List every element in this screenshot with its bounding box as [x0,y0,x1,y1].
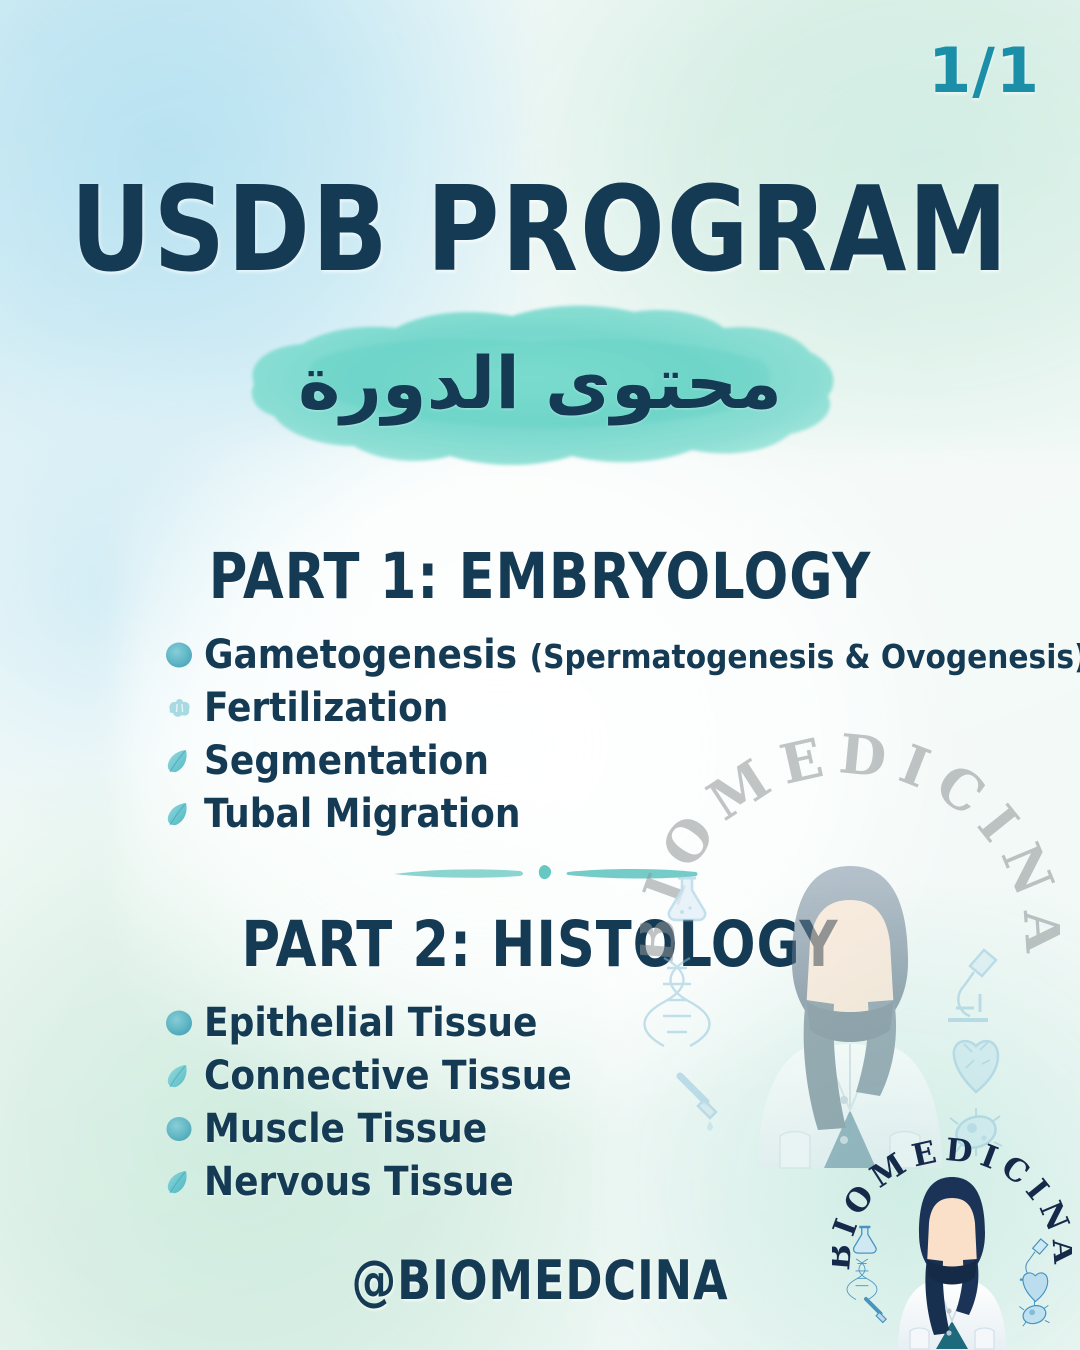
list-item-label: Connective Tissue [204,1053,572,1099]
page-title: USDB PROGRAM [32,160,1047,298]
list-item-label: Fertilization [204,685,448,731]
list-item-label: Tubal Migration [204,791,520,837]
poster-canvas: 1/1 USDB PROGRAM محتوى الدورة PART 1: EM… [0,0,1080,1350]
leaf-bullet-icon [162,1059,196,1093]
leaf-bullet-icon [162,744,196,778]
list-item-label: Gametogenesis (Spermatogenesis & Ovogene… [204,632,1080,678]
list-item-label: Segmentation [204,738,489,784]
leaf-bullet-icon [162,797,196,831]
subtitle-arabic: محتوى الدورة [0,342,1080,425]
list-item-label: Muscle Tissue [204,1106,487,1152]
list-item[interactable]: Tubal Migration [162,787,1042,840]
list-item[interactable]: Epithelial Tissue [162,996,1042,1049]
list-item[interactable]: Gametogenesis (Spermatogenesis & Ovogene… [162,628,1042,681]
bullet-list-part1: Gametogenesis (Spermatogenesis & Ovogene… [162,628,1042,840]
splash-bullet-icon [162,691,196,725]
brand-logo[interactable]: BIOMEDICINA [832,1135,1072,1350]
page-indicator: 1/1 [928,34,1040,107]
list-item[interactable]: Segmentation [162,734,1042,787]
circle-bullet-icon [162,1112,196,1146]
section-heading-part1: PART 1: EMBRYOLOGY [38,540,1042,613]
list-item[interactable]: Fertilization [162,681,1042,734]
leaf-bullet-icon [162,1165,196,1199]
section-heading-part2: PART 2: HISTOLOGY [38,908,1042,981]
circle-bullet-icon [162,1006,196,1040]
list-item-label: Epithelial Tissue [204,1000,537,1046]
circle-bullet-icon [162,638,196,672]
section-divider [390,855,700,889]
list-item[interactable]: Connective Tissue [162,1049,1042,1102]
list-item-label: Nervous Tissue [204,1159,514,1205]
footer-handle: @BIOMEDCINA [43,1249,1037,1312]
subtitle-block: محتوى الدورة [0,300,1080,480]
